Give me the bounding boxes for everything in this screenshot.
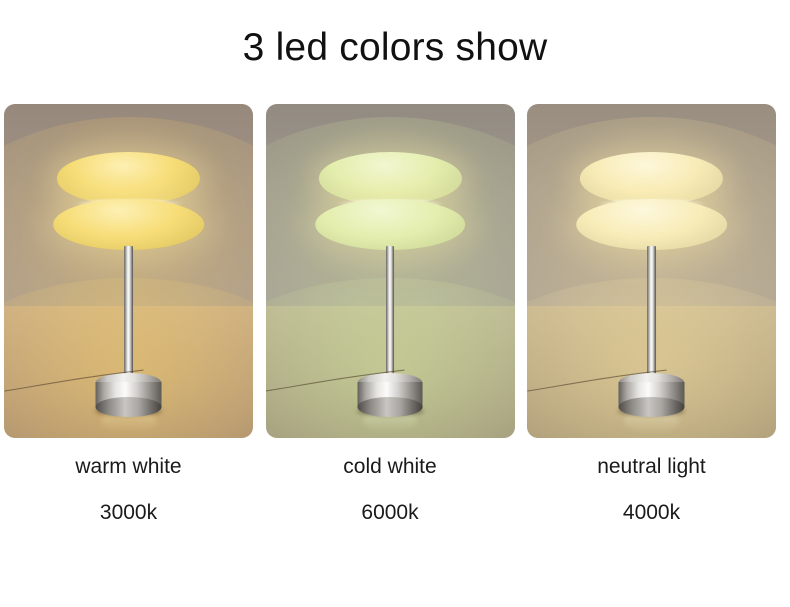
caption-cold-white: cold white 6000k	[266, 452, 515, 528]
caption-label: neutral light	[527, 452, 776, 482]
caption-temperature: 6000k	[266, 498, 515, 528]
lamp-base-bottom-1	[96, 397, 162, 417]
caption-row: warm white 3000k cold white 6000k neutra…	[4, 452, 776, 528]
lamp-stem-3	[647, 246, 656, 383]
caption-label: warm white	[4, 452, 253, 482]
product-photo-warm-white	[4, 104, 253, 438]
lamp-shade-upper-1	[57, 152, 200, 204]
caption-label: cold white	[266, 452, 515, 482]
lamp-stem-2	[386, 246, 395, 383]
lamp-base-bottom-2	[357, 397, 423, 417]
caption-temperature: 4000k	[527, 498, 776, 528]
lamp-shade-upper-3	[580, 152, 723, 204]
table-lamp-1	[4, 104, 253, 438]
table-lamp-3	[527, 104, 776, 438]
lamp-shade-lower-3	[576, 199, 727, 250]
lighting-color-comparison-graphic: 3 led colors show	[0, 0, 790, 607]
product-photo-neutral-light	[527, 104, 776, 438]
table-lamp-2	[266, 104, 515, 438]
lamp-shade-lower-1	[53, 199, 204, 250]
product-photo-cold-white	[266, 104, 515, 438]
lamp-base-bottom-3	[619, 397, 685, 417]
caption-neutral-light: neutral light 4000k	[527, 452, 776, 528]
lamp-shade-upper-2	[318, 152, 461, 204]
lamp-stem-1	[124, 246, 133, 383]
page-title: 3 led colors show	[0, 24, 790, 72]
product-photo-row	[4, 104, 776, 438]
caption-temperature: 3000k	[4, 498, 253, 528]
lamp-shade-lower-2	[315, 199, 466, 250]
caption-warm-white: warm white 3000k	[4, 452, 253, 528]
